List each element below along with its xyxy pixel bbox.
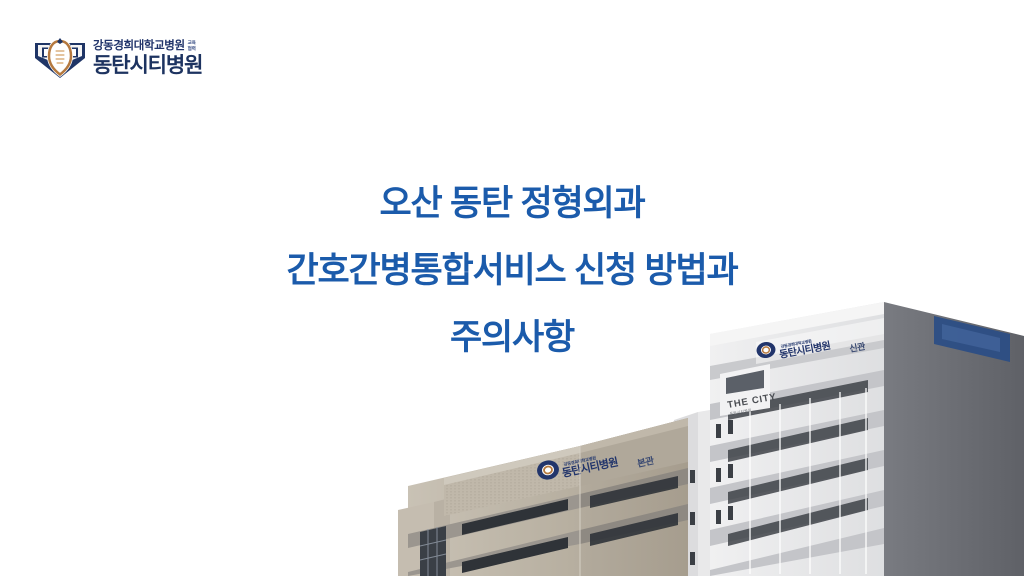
logo-hospital-name: 동탄시티병원 bbox=[93, 55, 202, 76]
hospital-logo[interactable]: 강동경희대학교병원 교육 협력 동탄시티병원 bbox=[34, 36, 202, 80]
logo-badge-line-2: 협력 bbox=[188, 46, 196, 52]
hospital-emblem-icon bbox=[34, 36, 86, 80]
logo-affiliation-badge: 교육 협력 bbox=[188, 40, 196, 52]
slide-canvas: 강동경희대학교병원 교육 협력 동탄시티병원 오산 동탄 정형외과 간호간병통합… bbox=[0, 0, 1024, 576]
logo-top-row: 강동경희대학교병원 교육 협력 bbox=[93, 40, 202, 52]
title-line-2: 간호간병통합서비스 신청 방법과 bbox=[0, 253, 1024, 288]
hospital-building-illustration: THE CITY 동탄시티병원 강동경희대학교병원 동탄시티병원 신관 bbox=[398, 296, 1024, 576]
title-line-1: 오산 동탄 정형외과 bbox=[0, 186, 1024, 221]
hospital-building-photo: THE CITY 동탄시티병원 강동경희대학교병원 동탄시티병원 신관 bbox=[398, 296, 1024, 576]
logo-text-block: 강동경희대학교병원 교육 협력 동탄시티병원 bbox=[93, 40, 202, 75]
logo-university-name: 강동경희대학교병원 bbox=[93, 41, 185, 53]
